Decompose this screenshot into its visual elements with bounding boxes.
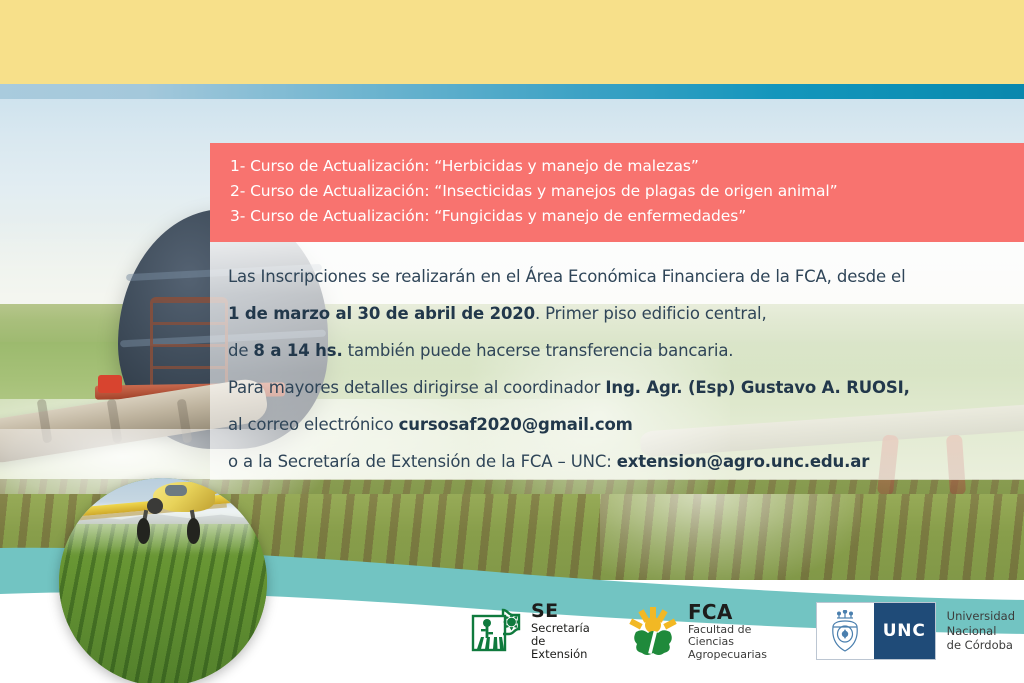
body-line-4-prefix: Para mayores detalles dirigirse al coord… bbox=[228, 378, 605, 397]
unc-crest-icon bbox=[828, 610, 862, 652]
photo-nozzle bbox=[98, 375, 122, 393]
course-item-2: 2- Curso de Actualización: “Insecticidas… bbox=[230, 179, 1024, 204]
circle-photo-plane-propeller-hub bbox=[147, 498, 163, 514]
unc-line-3: de Córdoba bbox=[947, 638, 1015, 652]
fca-logo-text: FCA Facultad de Ciencias Agropecuarias bbox=[688, 601, 780, 661]
body-line-3-prefix: de bbox=[228, 341, 253, 360]
body-line-3-text: también puede hacerse transferencia banc… bbox=[343, 341, 734, 360]
course-item-1: 1- Curso de Actualización: “Herbicidas y… bbox=[230, 154, 1024, 179]
unc-line-1: Universidad bbox=[947, 609, 1015, 623]
unc-line-2: Nacional bbox=[947, 624, 1015, 638]
body-line-5-prefix: al correo electrónico bbox=[228, 415, 399, 434]
se-abbr: SE bbox=[531, 601, 591, 622]
contact-email-extension[interactable]: extension@agro.unc.edu.ar bbox=[617, 452, 869, 471]
unc-abbr: UNC bbox=[874, 603, 935, 659]
circle-photo-cropduster bbox=[59, 478, 267, 683]
unc-crest-container bbox=[817, 603, 874, 659]
se-line-1: Secretaría de bbox=[531, 622, 591, 648]
body-line-2: 1 de marzo al 30 de abril de 2020. Prime… bbox=[228, 295, 1024, 332]
secretaria-extension-icon bbox=[470, 605, 522, 657]
logo-unc: UNC Universidad Nacional de Córdoba bbox=[816, 602, 1015, 660]
circle-photo-plane-wheel-left bbox=[137, 518, 150, 544]
body-line-6-prefix: o a la Secretaría de Extensión de la FCA… bbox=[228, 452, 617, 471]
body-line-2-text: . Primer piso edificio central, bbox=[535, 304, 767, 323]
unc-logo-block: UNC bbox=[816, 602, 936, 660]
poster-canvas: Curso de Actualización para Asesores Fit… bbox=[0, 0, 1024, 683]
body-line-5: al correo electrónico cursosaf2020@gmail… bbox=[228, 406, 1024, 443]
courses-banner: 1- Curso de Actualización: “Herbicidas y… bbox=[210, 143, 1024, 242]
enrollment-dates: 1 de marzo al 30 de abril de 2020 bbox=[228, 304, 535, 323]
footer-logos: SE Secretaría de Extensión bbox=[470, 596, 1015, 666]
body-line-4: Para mayores detalles dirigirse al coord… bbox=[228, 369, 1024, 406]
fca-line-2: Agropecuarias bbox=[688, 649, 780, 662]
logo-fca: FCA Facultad de Ciencias Agropecuarias bbox=[627, 601, 780, 661]
contact-email-course[interactable]: cursosaf2020@gmail.com bbox=[399, 415, 633, 434]
body-line-1-text: Las Inscripciones se realizarán en el Ár… bbox=[228, 267, 906, 286]
header-band bbox=[0, 0, 1024, 84]
office-hours: 8 a 14 hs. bbox=[253, 341, 342, 360]
body-text-block: Las Inscripciones se realizarán en el Ár… bbox=[228, 258, 1024, 480]
fca-sun-leaf-icon bbox=[627, 606, 679, 656]
fca-line-1: Facultad de Ciencias bbox=[688, 624, 780, 649]
header-gradient-rule bbox=[0, 84, 1024, 99]
coordinator-name: Ing. Agr. (Esp) Gustavo A. RUOSI, bbox=[605, 378, 909, 397]
fca-abbr: FCA bbox=[688, 601, 780, 624]
logo-secretaria-extension: SE Secretaría de Extensión bbox=[470, 601, 591, 661]
body-line-3: de 8 a 14 hs. también puede hacerse tran… bbox=[228, 332, 1024, 369]
body-line-6: o a la Secretaría de Extensión de la FCA… bbox=[228, 443, 1024, 480]
course-item-3: 3- Curso de Actualización: “Fungicidas y… bbox=[230, 204, 1024, 229]
circle-photo-plane-cockpit bbox=[165, 485, 187, 496]
se-line-2: Extensión bbox=[531, 648, 591, 661]
se-logo-text: SE Secretaría de Extensión bbox=[531, 601, 591, 661]
unc-logo-text: Universidad Nacional de Córdoba bbox=[947, 609, 1015, 652]
body-line-1: Las Inscripciones se realizarán en el Ár… bbox=[228, 258, 1024, 295]
circle-photo-plane-wheel-right bbox=[187, 518, 200, 544]
